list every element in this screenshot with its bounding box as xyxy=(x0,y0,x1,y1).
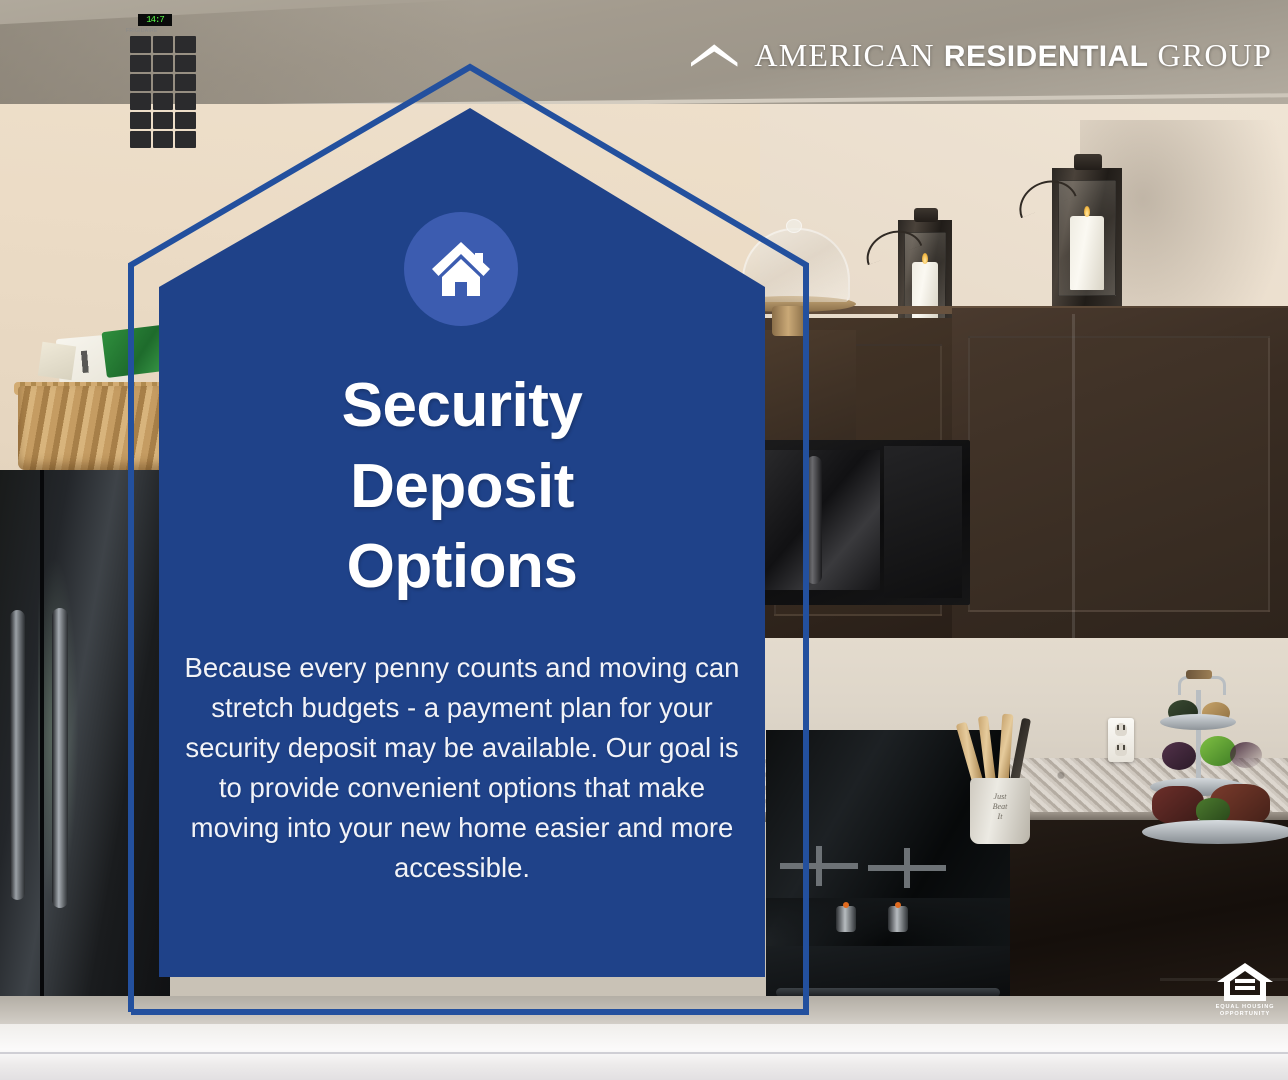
eho-line-1: EQUAL HOUSING xyxy=(1216,1004,1275,1011)
chevron-roof-icon xyxy=(690,32,738,78)
home-icon xyxy=(428,238,494,300)
equal-housing-label: EQUAL HOUSING OPPORTUNITY xyxy=(1216,1004,1275,1018)
home-icon-badge xyxy=(404,212,518,326)
equal-housing-icon xyxy=(1216,962,1274,1002)
brand-word-group: GROUP xyxy=(1158,37,1272,73)
brand-logo: AMERICAN RESIDENTIAL GROUP xyxy=(690,24,1272,86)
page-title: Security Deposit Options xyxy=(175,366,749,608)
title-line-3: Options xyxy=(175,527,749,608)
brand-name: AMERICAN RESIDENTIAL GROUP xyxy=(754,37,1272,74)
brand-word-american: AMERICAN xyxy=(754,37,934,73)
body-paragraph: Because every penny counts and moving ca… xyxy=(178,648,746,888)
brand-word-residential: RESIDENTIAL xyxy=(944,40,1148,73)
eho-line-2: OPPORTUNITY xyxy=(1216,1011,1275,1018)
title-line-2: Deposit xyxy=(175,447,749,528)
marketing-graphic: FRIGIDAIRE 14:7 xyxy=(0,0,1288,1080)
title-line-1: Security xyxy=(175,366,749,447)
equal-housing-opportunity-logo: EQUAL HOUSING OPPORTUNITY xyxy=(1214,962,1276,1020)
